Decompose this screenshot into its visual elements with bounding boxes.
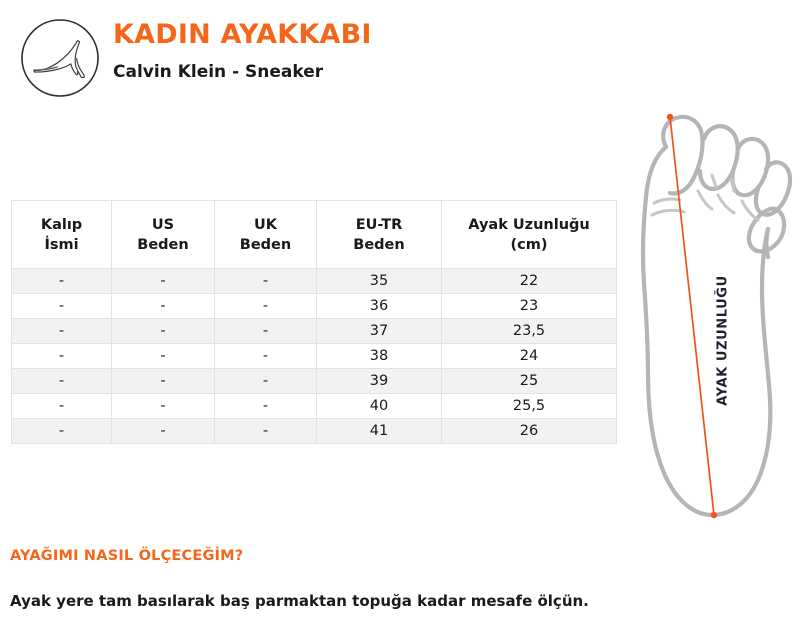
column-header-line2: Beden <box>116 235 210 255</box>
cell-kalip-ismi: - <box>12 294 112 319</box>
column-header-eu-tr-beden: EU-TR Beden <box>317 201 442 269</box>
column-header-line2: İsmi <box>16 235 107 255</box>
cell-ayak-uzunlugu: 24 <box>442 344 617 369</box>
howto-measure-text: Ayak yere tam basılarak baş parmaktan to… <box>10 592 589 610</box>
cell-eu-tr-beden: 41 <box>317 419 442 444</box>
cell-eu-tr-beden: 39 <box>317 369 442 394</box>
size-chart-table: Kalıp İsmi US Beden UK Beden EU-TR Beden… <box>11 200 617 444</box>
header-text-block: KADIN AYAKKABI Calvin Klein - Sneaker <box>113 18 372 85</box>
column-header-kalip-ismi: Kalıp İsmi <box>12 201 112 269</box>
table-row: - - - 40 25,5 <box>12 394 617 419</box>
cell-ayak-uzunlugu: 22 <box>442 269 617 294</box>
cell-eu-tr-beden: 35 <box>317 269 442 294</box>
high-heel-shoe-icon <box>14 12 106 104</box>
cell-ayak-uzunlugu: 23 <box>442 294 617 319</box>
column-header-line1: EU-TR <box>321 215 437 235</box>
measurement-endpoint-heel <box>711 512 717 518</box>
cell-us-beden: - <box>112 344 215 369</box>
measurement-endpoint-toe <box>667 114 673 120</box>
cell-uk-beden: - <box>215 294 317 319</box>
cell-uk-beden: - <box>215 369 317 394</box>
column-header-line2: Beden <box>219 235 312 255</box>
page-header: KADIN AYAKKABI Calvin Klein - Sneaker <box>0 0 800 110</box>
column-header-line1: Kalıp <box>16 215 107 235</box>
cell-us-beden: - <box>112 269 215 294</box>
size-chart-page: KADIN AYAKKABI Calvin Klein - Sneaker Ka… <box>0 0 800 634</box>
table-row: - - - 35 22 <box>12 269 617 294</box>
cell-kalip-ismi: - <box>12 394 112 419</box>
cell-kalip-ismi: - <box>12 419 112 444</box>
page-subtitle: Calvin Klein - Sneaker <box>113 59 372 85</box>
cell-ayak-uzunlugu: 26 <box>442 419 617 444</box>
table-row: - - - 36 23 <box>12 294 617 319</box>
cell-uk-beden: - <box>215 269 317 294</box>
column-header-line2: (cm) <box>446 235 612 255</box>
column-header-line1: US <box>116 215 210 235</box>
column-header-uk-beden: UK Beden <box>215 201 317 269</box>
cell-us-beden: - <box>112 369 215 394</box>
cell-us-beden: - <box>112 319 215 344</box>
cell-eu-tr-beden: 37 <box>317 319 442 344</box>
cell-ayak-uzunlugu: 25 <box>442 369 617 394</box>
cell-eu-tr-beden: 36 <box>317 294 442 319</box>
column-header-line1: Ayak Uzunluğu <box>446 215 612 235</box>
column-header-ayak-uzunlugu: Ayak Uzunluğu (cm) <box>442 201 617 269</box>
table-row: - - - 38 24 <box>12 344 617 369</box>
table-header-row: Kalıp İsmi US Beden UK Beden EU-TR Beden… <box>12 201 617 269</box>
cell-uk-beden: - <box>215 419 317 444</box>
column-header-line2: Beden <box>321 235 437 255</box>
cell-eu-tr-beden: 38 <box>317 344 442 369</box>
cell-uk-beden: - <box>215 344 317 369</box>
cell-uk-beden: - <box>215 394 317 419</box>
cell-kalip-ismi: - <box>12 269 112 294</box>
cell-us-beden: - <box>112 419 215 444</box>
cell-kalip-ismi: - <box>12 344 112 369</box>
foot-sole-diagram <box>620 105 800 530</box>
table-row: - - - 39 25 <box>12 369 617 394</box>
cell-ayak-uzunlugu: 25,5 <box>442 394 617 419</box>
cell-us-beden: - <box>112 394 215 419</box>
table-row: - - - 37 23,5 <box>12 319 617 344</box>
cell-us-beden: - <box>112 294 215 319</box>
cell-uk-beden: - <box>215 319 317 344</box>
column-header-us-beden: US Beden <box>112 201 215 269</box>
howto-measure-heading: AYAĞIMI NASIL ÖLÇECEĞİM? <box>10 548 243 564</box>
cell-ayak-uzunlugu: 23,5 <box>442 319 617 344</box>
cell-eu-tr-beden: 40 <box>317 394 442 419</box>
page-title: KADIN AYAKKABI <box>113 18 372 52</box>
table-row: - - - 41 26 <box>12 419 617 444</box>
cell-kalip-ismi: - <box>12 369 112 394</box>
cell-kalip-ismi: - <box>12 319 112 344</box>
column-header-line1: UK <box>219 215 312 235</box>
